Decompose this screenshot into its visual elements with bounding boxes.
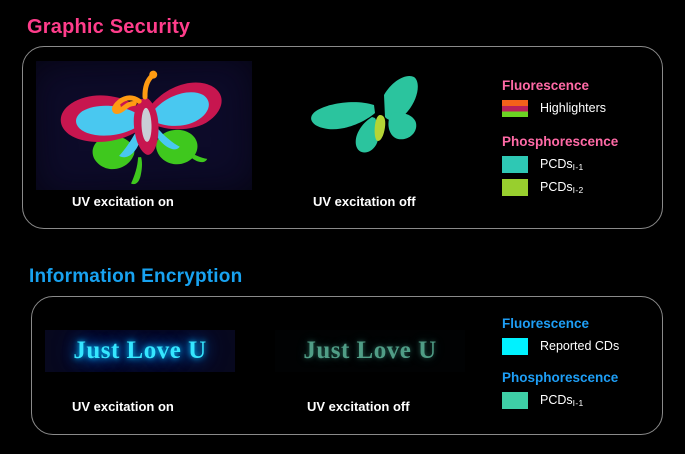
figure-canvas: Graphic Security [0,0,685,454]
legend-label-pcds-i-1: PCDsI-1 [540,157,583,172]
legend-row-pcds-i-1-2: PCDsI-1 [502,390,619,410]
caption-text-uv-on: UV excitation on [72,399,174,414]
legend-row-reported-cds: Reported CDs [502,336,619,356]
legend-heading-phosphorescence-2: Phosphorescence [502,370,619,385]
caption-text-uv-off: UV excitation off [307,399,410,414]
legend-graphic-security: Fluorescence Highlighters Phosphorescenc… [502,78,618,200]
legend-row-pcds-i-1: PCDsI-1 [502,154,618,174]
image-text-uv-off: Just Love U [275,330,465,372]
legend-spacer-2 [502,358,619,370]
legend-label-pcds-i-1-text: PCDs [540,157,573,171]
section-title-graphic-security: Graphic Security [27,16,190,39]
legend-label-reported-cds: Reported CDs [540,339,619,353]
swatch-reported-cds [502,338,528,355]
butterfly-uv-off-icon [288,61,488,190]
legend-sub-i-1: I-1 [573,162,584,172]
glow-text-uv-on: Just Love U [45,330,235,372]
legend-label-pcds-i-2-text: PCDs [540,180,573,194]
legend-information-encryption: Fluorescence Reported CDs Phosphorescenc… [502,316,619,412]
swatch-highlighters [502,100,528,117]
legend-label-pcds-i-1-2-text: PCDs [540,393,573,407]
legend-label-pcds-i-2: PCDsI-2 [540,180,583,195]
butterfly-uv-on-icon [36,61,252,190]
image-text-uv-on: Just Love U [45,330,235,372]
swatch-pcds-i-1-2 [502,392,528,409]
legend-label-pcds-i-1-2: PCDsI-1 [540,393,583,408]
image-butterfly-uv-off [288,61,488,190]
glow-text-uv-off: Just Love U [275,330,465,372]
legend-row-pcds-i-2: PCDsI-2 [502,177,618,197]
image-butterfly-uv-on [36,61,252,190]
legend-row-highlighters: Highlighters [502,98,618,118]
legend-heading-fluorescence-2: Fluorescence [502,316,619,331]
caption-butterfly-uv-on: UV excitation on [72,194,174,209]
legend-sub-i-1-2: I-1 [573,398,584,408]
caption-butterfly-uv-off: UV excitation off [313,194,416,209]
legend-heading-phosphorescence: Phosphorescence [502,134,618,149]
swatch-pcds-i-2 [502,179,528,196]
legend-sub-i-2: I-2 [573,185,584,195]
section-title-information-encryption: Information Encryption [29,266,242,288]
legend-label-highlighters: Highlighters [540,101,606,115]
legend-spacer [502,121,618,134]
swatch-pcds-i-1 [502,156,528,173]
legend-heading-fluorescence: Fluorescence [502,78,618,93]
